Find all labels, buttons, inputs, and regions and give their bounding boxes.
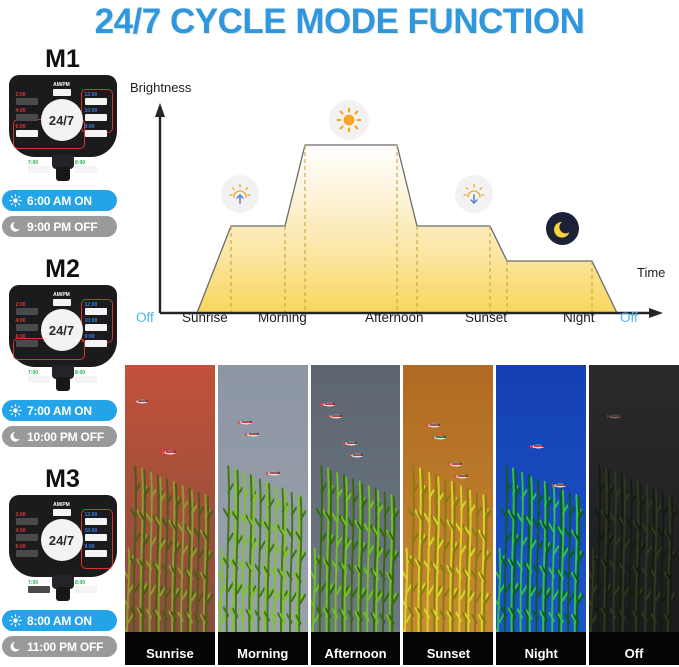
x-axis-label-sunset-4: Sunset [465, 310, 507, 325]
schedule-off-badge: 10:00 PM OFF [2, 426, 117, 447]
timer-key[interactable]: 7:00 [28, 370, 50, 383]
sun-icon [9, 614, 22, 627]
timer-key[interactable]: 9:00 [85, 334, 109, 347]
y-axis-label: Brightness [130, 80, 191, 95]
timer-keys-bottom: 7:008:00 [16, 370, 110, 383]
schedule-on-text: 6:00 AM ON [27, 194, 92, 208]
mode-card-m1: M1AM/PM24/72:004:006:0012:0010:009:007:0… [0, 45, 125, 237]
timer-key[interactable]: 10:00 [85, 318, 109, 331]
mode-dial[interactable]: 24/7 [41, 309, 83, 351]
timer-key[interactable]: 2:00 [16, 302, 40, 315]
timer-key-button[interactable] [16, 130, 38, 137]
photo-label: Off [589, 646, 679, 661]
timer-key-button[interactable] [85, 130, 107, 137]
schedule-off-text: 10:00 PM OFF [27, 430, 104, 444]
timer-key-button[interactable] [85, 534, 107, 541]
x-axis-label: Time [637, 265, 665, 280]
timer-key-button[interactable] [85, 518, 107, 525]
photo-panel-sunset: Sunset [403, 365, 493, 665]
timer-key[interactable]: 10:00 [85, 528, 109, 541]
fish [349, 446, 367, 464]
timer-key[interactable]: 4:00 [16, 108, 40, 121]
timer-keys-left: 2:004:006:00 [16, 92, 40, 140]
timer-keys-left: 2:004:006:00 [16, 512, 40, 560]
brightness-cycle-chart: Brightness Time [125, 75, 679, 335]
timer-key[interactable]: 4:00 [16, 318, 40, 331]
fish [454, 467, 472, 485]
mode-card-m2: M2AM/PM24/72:004:006:0012:0010:009:007:0… [0, 255, 125, 447]
photo-panel-night: Night [496, 365, 586, 665]
ampm-label: AM/PM [48, 292, 76, 298]
timer-key[interactable]: 9:00 [85, 124, 109, 137]
timer-controller[interactable]: AM/PM24/72:004:006:0012:0010:009:007:008… [7, 285, 119, 395]
moon-icon [9, 220, 22, 233]
fish [245, 425, 263, 443]
ampm-button[interactable] [53, 299, 71, 306]
timer-key-button[interactable] [28, 376, 50, 383]
moon-icon [9, 430, 22, 443]
sun-icon [9, 194, 22, 207]
mode-name: M2 [0, 255, 125, 283]
timer-key[interactable]: 6:00 [16, 124, 40, 137]
timer-key[interactable]: 7:00 [28, 580, 50, 593]
timer-key[interactable]: 6:00 [16, 544, 40, 557]
timer-keys-right: 12:0010:009:00 [85, 512, 109, 560]
schedule-off-text: 11:00 PM OFF [27, 640, 103, 654]
fish [432, 428, 450, 446]
timer-key-button[interactable] [75, 376, 97, 383]
photo-label: Morning [218, 646, 308, 661]
timer-controller[interactable]: AM/PM24/72:004:006:0012:0010:009:007:008… [7, 495, 119, 605]
sunrise-icon [221, 175, 259, 213]
timer-keys-bottom: 7:008:00 [16, 580, 110, 593]
mode-card-m3: M3AM/PM24/72:004:006:0012:0010:009:007:0… [0, 465, 125, 657]
photo-panel-afternoon: Afternoon [311, 365, 401, 665]
ampm-button[interactable] [53, 509, 71, 516]
timer-keys-bottom: 7:008:00 [16, 160, 110, 173]
schedule-off-text: 9:00 PM OFF [27, 220, 97, 234]
ampm-key[interactable]: AM/PM [48, 82, 76, 96]
timer-key[interactable]: 4:00 [16, 528, 40, 541]
photo-label: Sunrise [125, 646, 215, 661]
timer-keys-left: 2:004:006:00 [16, 302, 40, 350]
schedule-on-badge: 7:00 AM ON [2, 400, 117, 421]
timer-key[interactable]: 2:00 [16, 92, 40, 105]
timer-keys-right: 12:0010:009:00 [85, 302, 109, 350]
schedule-on-text: 7:00 AM ON [27, 404, 92, 418]
sunset-icon [455, 175, 493, 213]
timer-key[interactable]: 10:00 [85, 108, 109, 121]
mode-dial[interactable]: 24/7 [41, 99, 83, 141]
photo-label: Sunset [403, 646, 493, 661]
timer-key-button[interactable] [16, 534, 38, 541]
ampm-button[interactable] [53, 89, 71, 96]
x-axis-label-off-0: Off [136, 310, 154, 325]
fish [607, 407, 625, 425]
schedule-off-badge: 9:00 PM OFF [2, 216, 117, 237]
fish [134, 392, 152, 410]
timer-key-button[interactable] [85, 308, 107, 315]
timer-key-button[interactable] [75, 586, 97, 593]
sun-icon [9, 404, 22, 417]
timer-keys-right: 12:0010:009:00 [85, 92, 109, 140]
x-axis-label-sunrise-1: Sunrise [182, 310, 228, 325]
photo-panel-sunrise: Sunrise [125, 365, 215, 665]
timer-key[interactable]: 9:00 [85, 544, 109, 557]
timer-key-button[interactable] [85, 340, 107, 347]
fish [162, 443, 180, 461]
timer-key-button[interactable] [28, 166, 50, 173]
chart-x-axis-labels: OffSunriseMorningAfternoonSunsetNightOff [125, 310, 679, 330]
photo-label: Night [496, 646, 586, 661]
timer-key-button[interactable] [16, 550, 38, 557]
timer-key[interactable]: 12:00 [85, 302, 109, 315]
schedule-on-badge: 8:00 AM ON [2, 610, 117, 631]
mode-name: M3 [0, 465, 125, 493]
ampm-key[interactable]: AM/PM [48, 502, 76, 516]
timer-key-button[interactable] [85, 98, 107, 105]
ampm-label: AM/PM [48, 502, 76, 508]
ampm-label: AM/PM [48, 82, 76, 88]
timer-controller[interactable]: AM/PM24/72:004:006:0012:0010:009:007:008… [7, 75, 119, 185]
timer-key[interactable]: 8:00 [75, 370, 97, 383]
ampm-key[interactable]: AM/PM [48, 292, 76, 306]
timer-key[interactable]: 6:00 [16, 334, 40, 347]
sun-icon [329, 100, 369, 140]
timer-key[interactable]: 7:00 [28, 160, 50, 173]
timer-key-button[interactable] [85, 550, 107, 557]
timer-key-button[interactable] [16, 114, 38, 121]
timer-key-button[interactable] [75, 166, 97, 173]
timer-key-button[interactable] [16, 98, 38, 105]
y-axis [155, 103, 165, 313]
x-axis-label-afternoon-3: Afternoon [365, 310, 424, 325]
timer-key[interactable]: 8:00 [75, 580, 97, 593]
photo-panel-off: Off [589, 365, 679, 665]
mode-dial[interactable]: 24/7 [41, 519, 83, 561]
timer-key[interactable]: 12:00 [85, 92, 109, 105]
x-axis-label-morning-2: Morning [258, 310, 307, 325]
timer-key-button[interactable] [16, 324, 38, 331]
photo-panel-morning: Morning [218, 365, 308, 665]
schedule-on-text: 8:00 AM ON [27, 614, 92, 628]
timer-key-button[interactable] [16, 518, 38, 525]
photo-label: Afternoon [311, 646, 401, 661]
timer-key-button[interactable] [16, 340, 38, 347]
x-axis-label-night-5: Night [563, 310, 595, 325]
mode-name: M1 [0, 45, 125, 73]
chart-svg [125, 75, 679, 335]
fish [266, 464, 284, 482]
timer-key-button[interactable] [16, 308, 38, 315]
timer-key[interactable]: 8:00 [75, 160, 97, 173]
timer-key-button[interactable] [28, 586, 50, 593]
page-title: 24/7 CYCLE MODE FUNCTION [0, 2, 679, 42]
timer-key-button[interactable] [85, 114, 107, 121]
aquarium-photo-strip: SunriseMorningAfternoonSunsetNightOff [125, 365, 679, 665]
fish [552, 476, 570, 494]
timer-key[interactable]: 2:00 [16, 512, 40, 525]
timer-key[interactable]: 12:00 [85, 512, 109, 525]
schedule-off-badge: 11:00 PM OFF [2, 636, 117, 657]
fish [530, 437, 548, 455]
x-axis-label-off-6: Off [620, 310, 638, 325]
schedule-on-badge: 6:00 AM ON [2, 190, 117, 211]
moon-icon [546, 212, 579, 245]
moon-icon [9, 640, 22, 653]
timer-key-button[interactable] [85, 324, 107, 331]
fish [328, 407, 346, 425]
